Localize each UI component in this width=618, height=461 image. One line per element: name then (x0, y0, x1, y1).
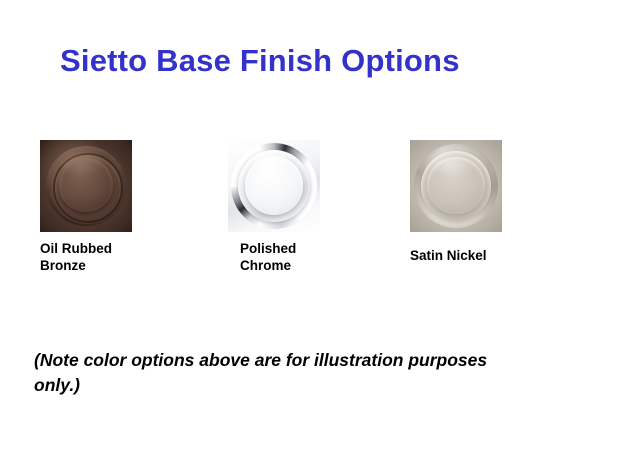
polished-chrome-swatch[interactable] (228, 140, 320, 232)
page-title: Sietto Base Finish Options (60, 43, 460, 79)
finish-option-oil-rubbed-bronze[interactable]: Oil Rubbed Bronze (40, 140, 132, 275)
finish-label-polished-chrome: Polished Chrome (240, 241, 320, 275)
knob-gloss-highlight (57, 149, 107, 177)
finish-option-satin-nickel[interactable]: Satin Nickel (410, 140, 502, 265)
illustration-disclaimer-note: (Note color options above are for illust… (34, 348, 534, 399)
finish-option-polished-chrome[interactable]: Polished Chrome (228, 140, 320, 275)
satin-nickel-swatch[interactable] (410, 140, 502, 232)
finish-options-page: Sietto Base Finish Options Oil Rubbed Br… (0, 0, 618, 461)
oil-rubbed-bronze-swatch[interactable] (40, 140, 132, 232)
finish-label-oil-rubbed-bronze: Oil Rubbed Bronze (40, 241, 132, 275)
finish-label-satin-nickel: Satin Nickel (410, 248, 502, 265)
knob-gloss-highlight (425, 150, 477, 176)
